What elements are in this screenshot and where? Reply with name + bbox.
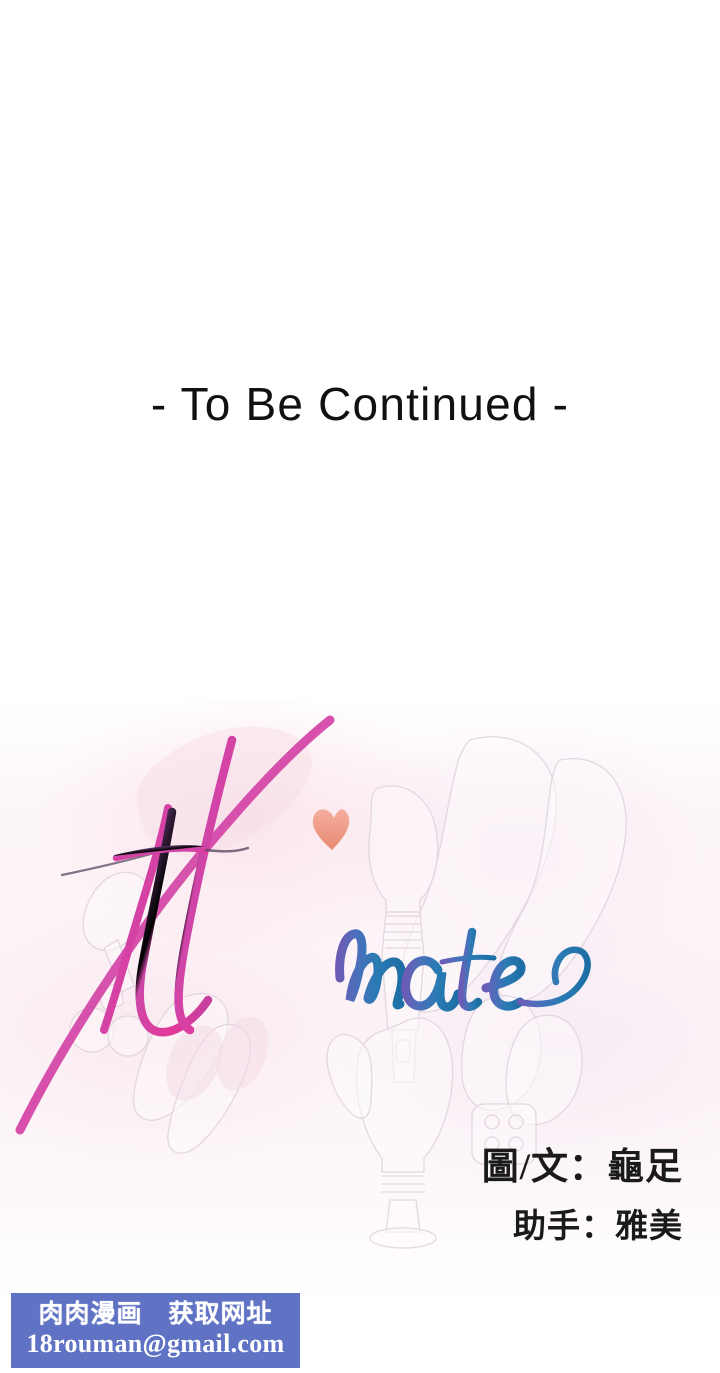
webtoon-end-card-page: - To Be Continued - [0, 0, 720, 1373]
top-white-area [0, 0, 720, 745]
heart-icon [313, 809, 349, 850]
sketch-rabbit-ear [327, 1035, 372, 1118]
credit-assistant: 助手：雅美 [0, 1199, 683, 1247]
credit-author: 圖/文：龜足 [0, 1136, 683, 1190]
watermark-banner: 肉肉漫画 获取网址 18rouman@gmail.com [11, 1293, 300, 1368]
watermark-site-name: 肉肉漫画 获取网址 [38, 1300, 272, 1328]
watermark-email: 18rouman@gmail.com [26, 1329, 284, 1359]
to-be-continued-text: - To Be Continued - [0, 377, 720, 431]
